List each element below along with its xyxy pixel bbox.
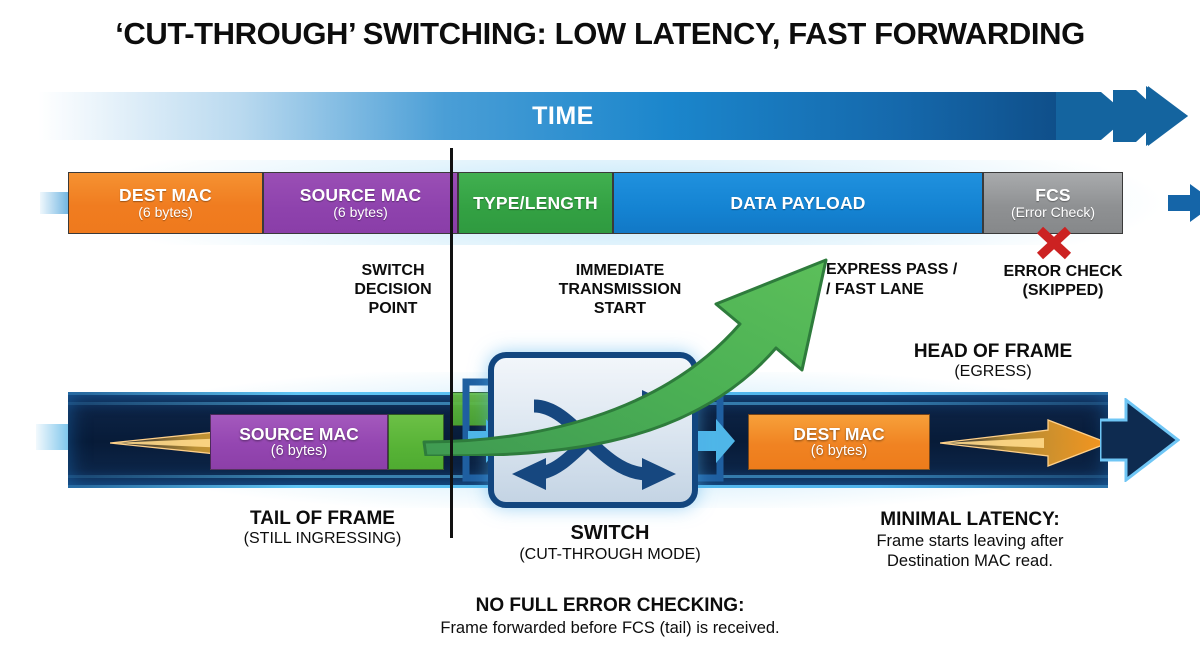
annotation-no-error-checking: NO FULL ERROR CHECKING: Frame forwarded … bbox=[300, 594, 920, 638]
minimal-latency-title: MINIMAL LATENCY: bbox=[800, 508, 1140, 531]
segment-name: DEST MAC bbox=[119, 186, 212, 204]
diagram-canvas: ‘CUT-THROUGH’ SWITCHING: LOW LATENCY, FA… bbox=[0, 0, 1200, 670]
red-x-icon bbox=[1035, 226, 1073, 260]
segment-name: FCS bbox=[1035, 186, 1071, 204]
dark-blue-arrow-icon bbox=[1100, 398, 1180, 482]
annotation-switch-mode: SWITCH (CUT-THROUGH MODE) bbox=[460, 522, 760, 564]
segment-sub: (Error Check) bbox=[1011, 205, 1095, 220]
frame-segment-fcs: FCS (Error Check) bbox=[983, 172, 1123, 234]
egress-flow-arrow bbox=[940, 418, 1110, 473]
block-sub: (6 bytes) bbox=[271, 444, 327, 459]
segment-sub: (6 bytes) bbox=[333, 205, 387, 220]
switch-sub: (CUT-THROUGH MODE) bbox=[460, 546, 760, 565]
segment-name: SOURCE MAC bbox=[300, 186, 422, 204]
minimal-latency-line1: Frame starts leaving after bbox=[800, 531, 1140, 551]
frame-segment-type-length: TYPE/LENGTH bbox=[458, 172, 613, 234]
head-of-frame-title: HEAD OF FRAME bbox=[820, 341, 1166, 363]
ethernet-frame-bar: DEST MAC (6 bytes) SOURCE MAC (6 bytes) … bbox=[40, 160, 1200, 245]
annotation-error-check-skipped: ERROR CHECK (SKIPPED) bbox=[975, 262, 1151, 300]
no-error-checking-title: NO FULL ERROR CHECKING: bbox=[300, 594, 920, 618]
green-curved-arrow-icon bbox=[410, 246, 860, 456]
no-error-checking-line1: Frame forwarded before FCS (tail) is rec… bbox=[300, 618, 920, 639]
pipeline-block-source-mac: SOURCE MAC (6 bytes) bbox=[210, 414, 388, 470]
block-name: SOURCE MAC bbox=[239, 425, 359, 443]
frame-segment-dest-mac: DEST MAC (6 bytes) bbox=[68, 172, 263, 234]
time-axis-arrow: TIME bbox=[38, 86, 1188, 146]
error-check-skipped-mark bbox=[1035, 226, 1073, 260]
segment-name: DATA PAYLOAD bbox=[730, 194, 865, 212]
annotation-minimal-latency: MINIMAL LATENCY: Frame starts leaving af… bbox=[800, 508, 1140, 571]
switch-title: SWITCH bbox=[460, 522, 760, 546]
frame-segment-source-mac: SOURCE MAC (6 bytes) bbox=[263, 172, 458, 234]
blue-arrow-icon bbox=[1168, 184, 1200, 222]
pipeline-egress-arrow bbox=[1100, 398, 1180, 482]
segment-sub: (6 bytes) bbox=[138, 205, 192, 220]
express-pass-arrow bbox=[410, 246, 860, 456]
switch-decision-line bbox=[450, 148, 453, 538]
segment-name: TYPE/LENGTH bbox=[473, 194, 598, 212]
minimal-latency-line2: Destination MAC read. bbox=[800, 551, 1140, 571]
page-title: ‘CUT-THROUGH’ SWITCHING: LOW LATENCY, FA… bbox=[0, 16, 1200, 52]
tail-of-frame-sub: (STILL INGRESSING) bbox=[195, 530, 450, 549]
annotation-tail-of-frame: TAIL OF FRAME (STILL INGRESSING) bbox=[195, 508, 450, 549]
frame-segment-data-payload: DATA PAYLOAD bbox=[613, 172, 983, 234]
orange-fire-arrow-icon bbox=[940, 418, 1110, 468]
time-label: TIME bbox=[38, 86, 1088, 146]
frame-egress-arrow bbox=[1168, 184, 1200, 222]
tail-of-frame-title: TAIL OF FRAME bbox=[195, 508, 450, 530]
